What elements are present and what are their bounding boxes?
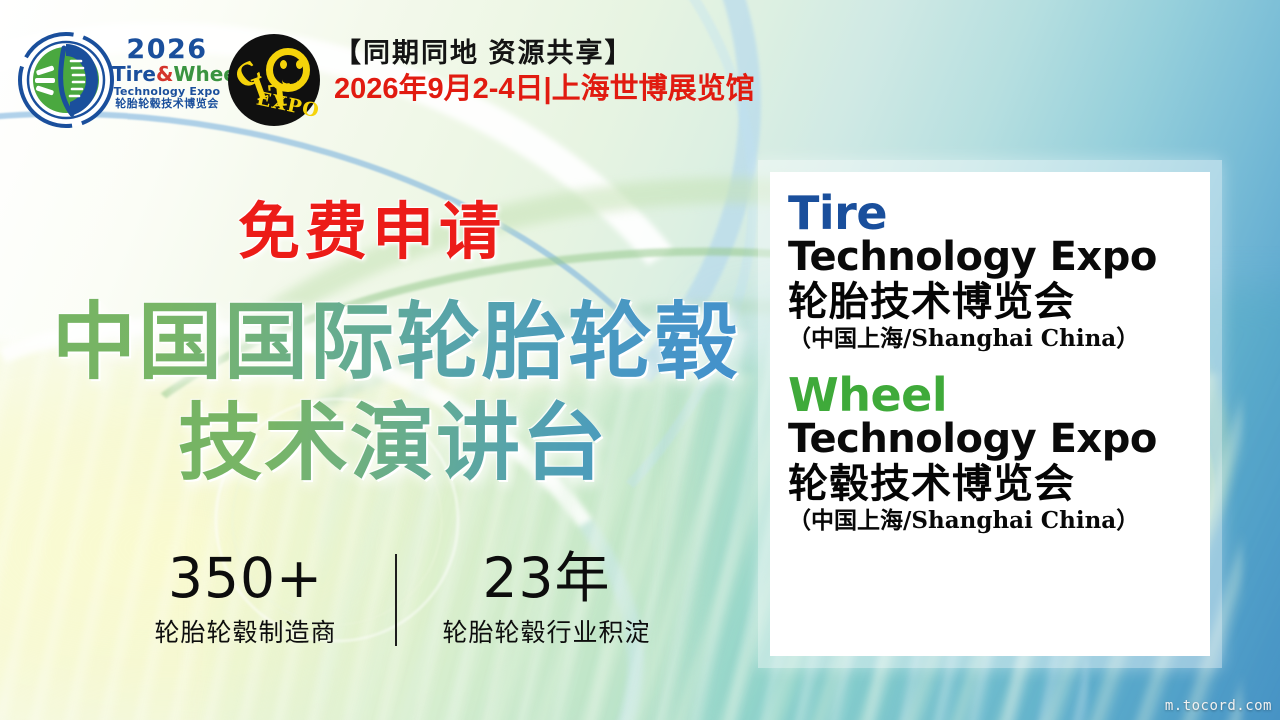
stat-label: 轮胎轮毂制造商 (96, 613, 395, 649)
stat-item-manufacturers: 350+ 轮胎轮毂制造商 (96, 551, 395, 649)
stat-number: 23年 (397, 551, 696, 606)
site-watermark: m.tocord.com (1165, 698, 1272, 714)
headline-line-1: 中国国际轮胎轮毂 (52, 298, 752, 387)
stat-label: 轮胎轮毂行业积淀 (397, 613, 696, 649)
header-tagline: 【同期同地 资源共享】 (334, 38, 755, 69)
panel-spacer (788, 352, 1196, 366)
citexpo-mouth-icon (282, 70, 298, 89)
tire-brand-title: Tire (788, 190, 1196, 238)
header-date-venue: 2026年9月2-4日|上海世博展览馆 (334, 73, 755, 106)
headline-line-2: 技术演讲台 (178, 399, 752, 488)
logo-name-ampersand: & (156, 62, 173, 86)
banner-header: 2026 Tire&Wheel Technology Expo 轮胎轮毂技术博览… (0, 0, 1280, 140)
wheel-tech-subtitle: Technology Expo (788, 418, 1196, 461)
promotional-banner: 2026 Tire&Wheel Technology Expo 轮胎轮毂技术博览… (0, 0, 1280, 720)
tire-wheel-expo-logo-text: 2026 Tire&Wheel Technology Expo 轮胎轮毂技术博览… (112, 36, 222, 110)
tire-wheel-expo-logo-icon (14, 28, 118, 132)
free-application-kicker[interactable]: 免费申请 (238, 202, 506, 264)
logo-name: Tire&Wheel (112, 64, 222, 84)
stat-item-years: 23年 轮胎轮毂行业积淀 (397, 551, 696, 649)
statistics-row: 350+ 轮胎轮毂制造商 23年 轮胎轮毂行业积淀 (96, 548, 696, 652)
wheel-location: （中国上海/Shanghai China） (788, 508, 1196, 534)
citexpo-eye-left-icon (280, 60, 287, 69)
wheel-expo-block: Wheel Technology Expo 轮毂技术博览会 （中国上海/Shan… (788, 372, 1196, 534)
citexpo-eye-right-icon (296, 60, 303, 69)
stat-number: 350+ (96, 551, 395, 606)
wheel-brand-title: Wheel (788, 372, 1196, 420)
citexpo-logo-icon: C I T EXPO (228, 34, 320, 126)
citexpo-expo-label: EXPO (254, 88, 321, 123)
expo-panel: Tire Technology Expo 轮胎技术博览会 （中国上海/Shang… (770, 172, 1210, 656)
logo-subtitle-cn: 轮胎轮毂技术博览会 (112, 99, 222, 110)
logo-subtitle: Technology Expo (112, 86, 222, 97)
tire-location: （中国上海/Shanghai China） (788, 326, 1196, 352)
wheel-title-cn: 轮毂技术博览会 (788, 462, 1196, 506)
tire-tech-subtitle: Technology Expo (788, 236, 1196, 279)
header-text-block: 【同期同地 资源共享】 2026年9月2-4日|上海世博展览馆 (334, 38, 755, 106)
tire-expo-block: Tire Technology Expo 轮胎技术博览会 （中国上海/Shang… (788, 190, 1196, 352)
logo-name-tire: Tire (112, 62, 156, 86)
main-headline: 中国国际轮胎轮毂 技术演讲台 (52, 298, 752, 488)
tire-title-cn: 轮胎技术博览会 (788, 280, 1196, 324)
logo-year: 2026 (112, 36, 222, 63)
